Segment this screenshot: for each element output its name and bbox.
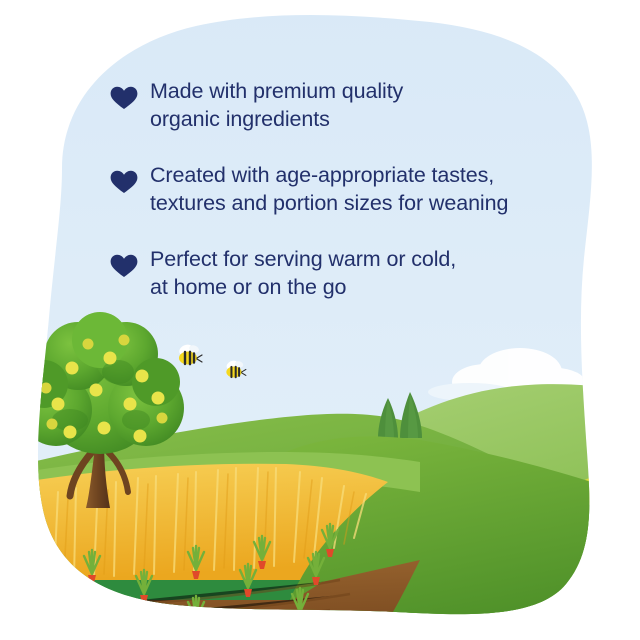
- heart-icon: [110, 86, 138, 110]
- list-item: Perfect for serving warm or cold, at hom…: [110, 246, 456, 302]
- heart-icon: [110, 170, 138, 194]
- heart-icon: [110, 254, 138, 278]
- benefits-list: Made with premium quality organic ingred…: [0, 0, 640, 340]
- list-item: Created with age-appropriate tastes, tex…: [110, 162, 508, 218]
- list-item-label: Perfect for serving warm or cold, at hom…: [150, 246, 456, 302]
- promo-card: Made with premium quality organic ingred…: [0, 0, 640, 640]
- list-item-label: Created with age-appropriate tastes, tex…: [150, 162, 508, 218]
- field-marks: [590, 470, 623, 495]
- list-item: Made with premium quality organic ingred…: [110, 78, 403, 134]
- list-item-label: Made with premium quality organic ingred…: [150, 78, 403, 134]
